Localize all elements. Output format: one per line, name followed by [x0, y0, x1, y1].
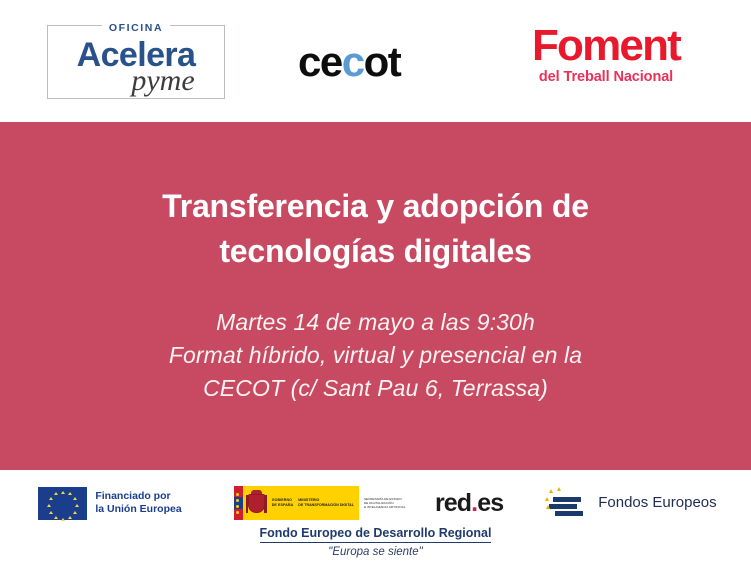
ministerio-label: MINISTERIO DE TRANSFORMACIÓN DIGITAL: [298, 498, 354, 507]
foment-wordmark: Foment: [532, 22, 680, 70]
redes-part-es: es: [477, 489, 503, 517]
secretaria-estado-label: SECRETARÍA DE ESTADO DE DIGITALIZACIÓN E…: [364, 497, 406, 509]
secretaria-estado-panel: SECRETARÍA DE ESTADO DE DIGITALIZACIÓN E…: [359, 486, 421, 520]
redes-logo: red.es: [435, 489, 503, 517]
cecot-part-3: ot: [364, 38, 401, 85]
acelera-pyme-wordmark: pyme: [48, 64, 224, 98]
gobierno-label-line2: DE ESPAÑA: [272, 503, 294, 508]
header-logo-bar: OFICINA Acelera pyme cecot Foment del Tr…: [0, 0, 751, 122]
event-details: Martes 14 de mayo a las 9:30h Format híb…: [169, 306, 582, 405]
fondos-europeos-label: Fondos Europeos: [598, 494, 716, 512]
eu-funding-text: Financiado por la Unión Europea: [95, 490, 181, 516]
event-format-line: Format híbrido, virtual y presencial en …: [169, 339, 582, 372]
gobierno-yellow-panel: GOBIERNO DE ESPAÑA MINISTERIO DE TRANSFO…: [243, 486, 359, 520]
acelera-oficina-badge-wrap: OFICINA: [48, 18, 224, 36]
secretaria-line3: E INTELIGENCIA ARTIFICIAL: [364, 505, 406, 509]
eu-funding-line2: la Unión Europea: [95, 503, 181, 516]
event-date-line: Martes 14 de mayo a las 9:30h: [169, 306, 582, 339]
ministerio-label-line2: DE TRANSFORMACIÓN DIGITAL: [298, 503, 354, 508]
event-title: Transferencia y adopción de tecnologías …: [76, 184, 676, 274]
gobierno-label: GOBIERNO DE ESPAÑA: [272, 498, 294, 507]
feder-caption: Fondo Europeo de Desarrollo Regional "Eu…: [0, 524, 751, 560]
main-banner: Transferencia y adopción de tecnologías …: [0, 122, 751, 470]
gobierno-espana-logo: GOBIERNO DE ESPAÑA MINISTERIO DE TRANSFO…: [234, 486, 421, 520]
cecot-part-1: ce: [298, 38, 342, 85]
redes-part-red: red: [435, 489, 471, 517]
gobierno-flag-bars: [234, 486, 243, 520]
feder-slogan: "Europa se siente": [0, 545, 751, 560]
fondos-europeos-icon: [545, 486, 589, 520]
foment-logo: Foment del Treball Nacional: [506, 22, 706, 86]
eu-funding-line1: Financiado por: [95, 490, 181, 503]
event-location-line: CECOT (c/ Sant Pau 6, Terrassa): [169, 372, 582, 405]
gobierno-bar-dots: [236, 491, 240, 515]
footer-logo-row: Financiado por la Unión Europea: [0, 482, 751, 524]
footer-funding-bar: Financiado por la Unión Europea: [0, 470, 751, 563]
spain-coat-of-arms-icon: [246, 490, 267, 516]
foment-subtitle: del Treball Nacional: [506, 68, 706, 86]
feder-title: Fondo Europeo de Desarrollo Regional: [260, 525, 492, 543]
acelera-pyme-logo: OFICINA Acelera pyme: [47, 25, 225, 99]
fondos-europeos-logo: Fondos Europeos: [545, 486, 716, 520]
eu-flag-icon: [38, 487, 87, 520]
cecot-logo: cecot: [298, 40, 400, 84]
eu-funding-logo: Financiado por la Unión Europea: [38, 487, 181, 520]
cecot-blue-c: c: [342, 38, 364, 85]
acelera-oficina-badge: OFICINA: [102, 21, 170, 35]
poster-root: OFICINA Acelera pyme cecot Foment del Tr…: [0, 0, 751, 563]
